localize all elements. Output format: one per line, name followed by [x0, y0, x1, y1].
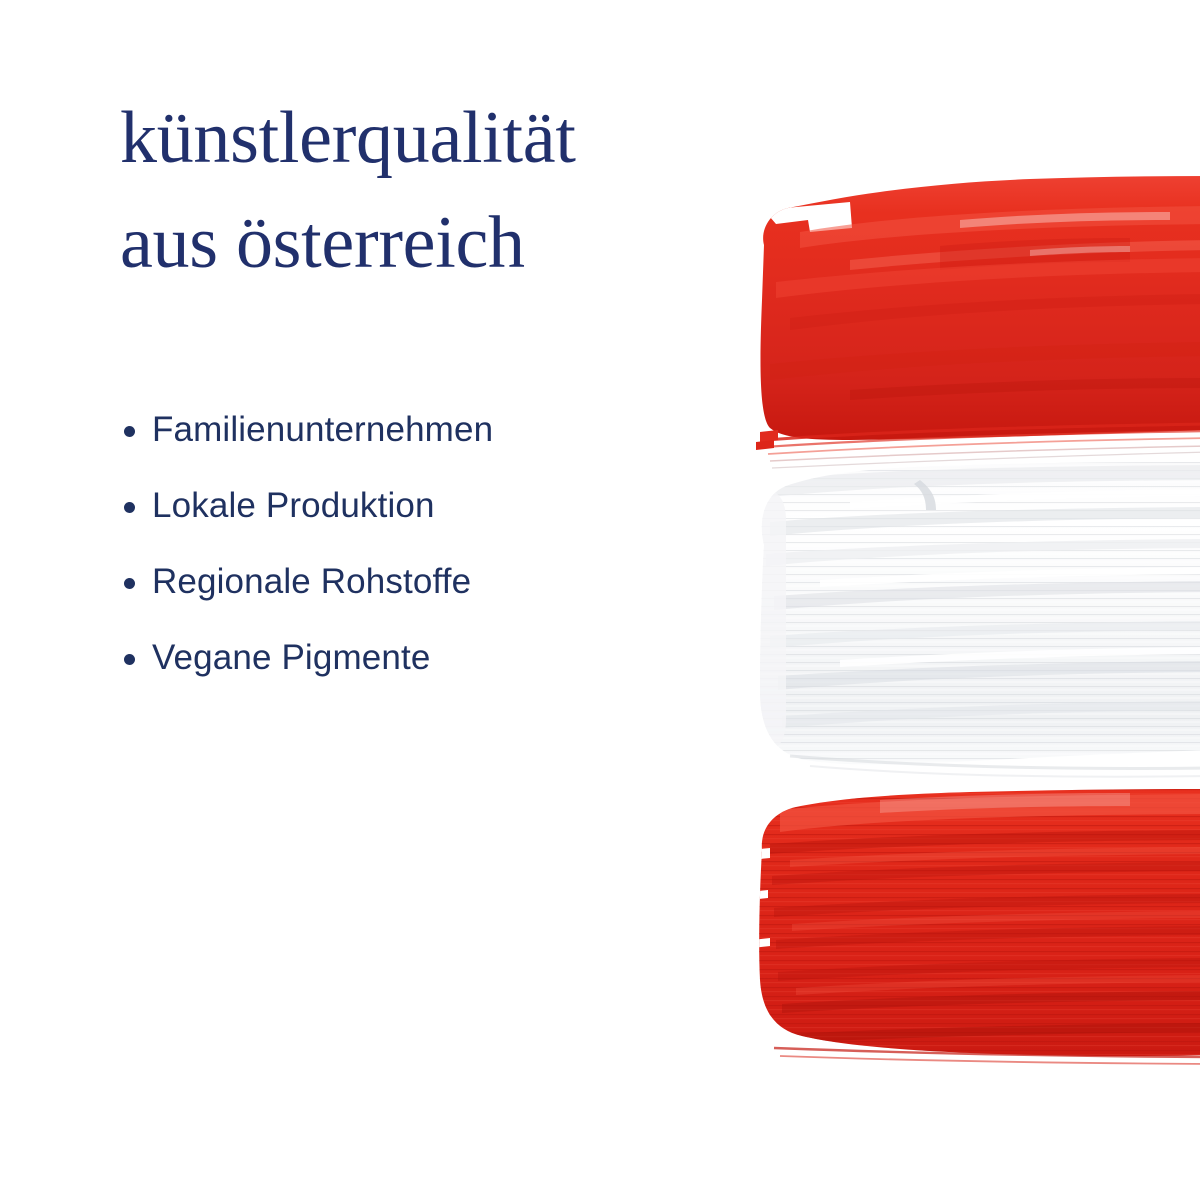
bullet-dot-icon — [124, 502, 135, 513]
list-item: Vegane Pigmente — [124, 620, 760, 696]
list-item: Lokale Produktion — [124, 468, 760, 544]
bullet-dot-icon — [124, 426, 135, 437]
list-item: Familienunternehmen — [124, 392, 760, 468]
poster-canvas: künstlerqualität aus österreich Familien… — [0, 0, 1200, 1200]
feature-label: Familienunternehmen — [152, 410, 493, 450]
top-red-stroke — [756, 176, 1200, 468]
feature-label: Vegane Pigmente — [152, 638, 430, 678]
paint-strokes-svg — [730, 150, 1200, 1080]
text-column: künstlerqualität aus österreich Familien… — [120, 86, 760, 696]
bullet-dot-icon — [124, 578, 135, 589]
bullet-dot-icon — [124, 654, 135, 665]
feature-list: Familienunternehmen Lokale Produktion Re… — [124, 392, 760, 696]
page-title: künstlerqualität aus österreich — [120, 86, 760, 296]
bottom-red-stroke — [750, 780, 1200, 1070]
feature-label: Lokale Produktion — [152, 486, 435, 526]
feature-label: Regionale Rohstoffe — [152, 562, 471, 602]
middle-white-stroke — [750, 460, 1200, 777]
paint-strokes-artwork — [730, 150, 1200, 1080]
list-item: Regionale Rohstoffe — [124, 544, 760, 620]
